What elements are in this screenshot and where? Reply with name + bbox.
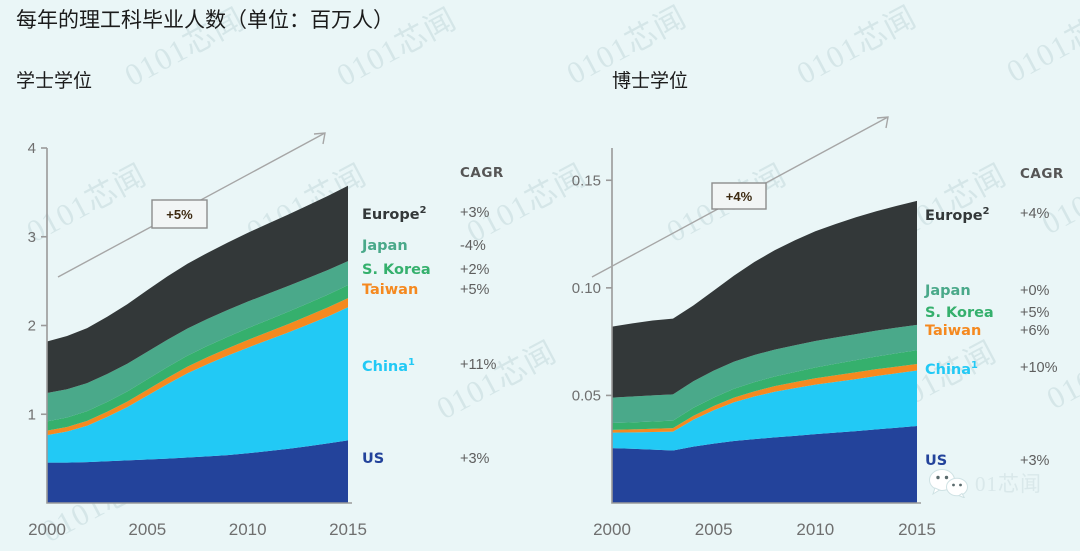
- legend-cagr-taiwan: +5%: [460, 282, 489, 298]
- chart-title-bachelors: 学士学位: [16, 66, 92, 93]
- legend-cagr-europe: +3%: [460, 205, 489, 221]
- legend-cagr-s_korea: +5%: [1020, 305, 1049, 321]
- legend-label-japan: Japan: [362, 238, 408, 254]
- y-tick-label: 1: [28, 406, 36, 423]
- x-tick-label: 2010: [796, 520, 834, 539]
- x-tick-label: 2010: [229, 520, 267, 539]
- slide-canvas: 0101芯闻0101芯闻0101芯闻0101芯闻0101芯闻0101芯闻0101…: [0, 0, 1080, 540]
- x-tick-label: 2005: [128, 520, 166, 539]
- legend-label-s_korea: S. Korea: [925, 305, 994, 321]
- cagr-callout-label: +4%: [726, 189, 753, 204]
- cagr-callout-label: +5%: [166, 207, 193, 222]
- page-title: 每年的理工科毕业人数（单位：百万人）: [16, 4, 394, 34]
- y-tick-label: 2: [28, 318, 36, 335]
- legend-label-china: China1: [362, 357, 415, 375]
- y-tick-label: 0.05: [572, 387, 601, 404]
- legend-cagr-us: +3%: [1020, 453, 1049, 469]
- y-tick-label: 0.15: [572, 172, 601, 189]
- legend-cagr-taiwan: +6%: [1020, 323, 1049, 339]
- legend-cagr-japan: +0%: [1020, 283, 1049, 299]
- x-tick-label: 2000: [593, 520, 631, 539]
- legend-footnote-marker: 1: [971, 360, 978, 371]
- legend-footnote-marker: 2: [983, 206, 990, 217]
- legend-cagr-china: +11%: [460, 357, 496, 373]
- legend-label-us: US: [925, 453, 947, 469]
- legend-cagr-us: +3%: [460, 451, 489, 467]
- legend-label-us: US: [362, 451, 384, 467]
- legend-cagr-header: CAGR: [460, 165, 504, 181]
- x-tick-label: 2015: [898, 520, 936, 539]
- x-tick-label: 2015: [329, 520, 367, 539]
- y-tick-label: 0.10: [572, 280, 601, 297]
- legend-cagr-header: CAGR: [1020, 166, 1064, 182]
- legend-cagr-japan: -4%: [460, 238, 486, 254]
- legend-label-taiwan: Taiwan: [362, 282, 418, 298]
- legend-label-taiwan: Taiwan: [925, 323, 981, 339]
- y-tick-label: 3: [28, 229, 36, 246]
- wechat-label: 01芯闻: [975, 468, 1042, 498]
- legend-footnote-marker: 1: [408, 357, 415, 368]
- legend-label-china: China1: [925, 360, 978, 378]
- y-tick-label: 4: [28, 140, 36, 157]
- legend-cagr-europe: +4%: [1020, 206, 1049, 222]
- legend-cagr-s_korea: +2%: [460, 262, 489, 278]
- legend-label-s_korea: S. Korea: [362, 262, 431, 278]
- area-group: [612, 201, 917, 503]
- legend-cagr-china: +10%: [1020, 360, 1058, 376]
- x-tick-label: 2005: [695, 520, 733, 539]
- legend-label-europe: Europe2: [362, 205, 426, 223]
- wechat-icon: [928, 468, 970, 498]
- area-group: [47, 186, 348, 503]
- legend-label-europe: Europe2: [925, 206, 989, 224]
- legend-label-japan: Japan: [925, 283, 971, 299]
- x-tick-label: 2000: [28, 520, 66, 539]
- chart-title-doctoral: 博士学位: [612, 66, 688, 93]
- legend-footnote-marker: 2: [420, 205, 427, 216]
- wechat-badge: 01芯闻: [928, 468, 1042, 498]
